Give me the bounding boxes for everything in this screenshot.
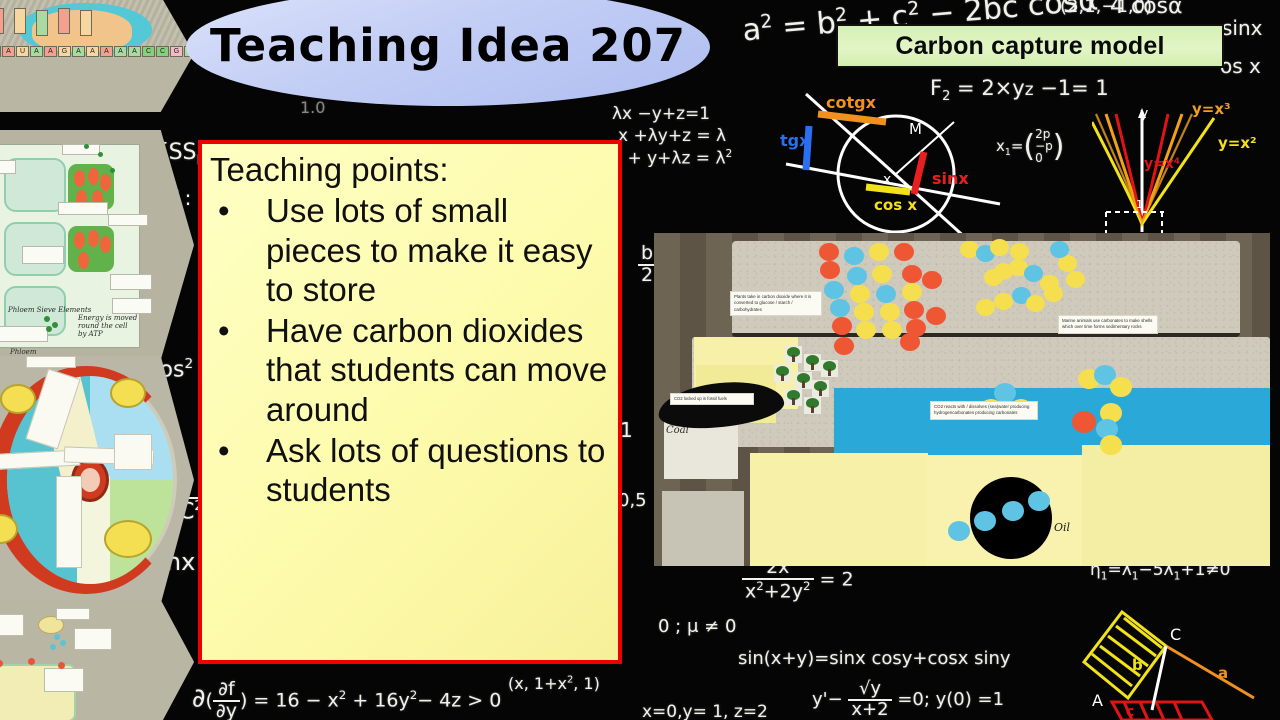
bullet-icon: • [218, 311, 230, 351]
formula-bracket-vector: (x, 1+x2, 1) [508, 674, 600, 693]
list-item-label: Ask lots of questions to students [266, 432, 605, 509]
side-photo-enzyme-worksheet [0, 600, 194, 720]
svg-text:c: c [1126, 704, 1134, 720]
topic-banner: Carbon capture model [836, 24, 1224, 68]
bullet-icon: • [218, 431, 230, 471]
label-plants-carbon-dioxide: Plants take in carbon dioxide where it i… [730, 291, 822, 316]
list-item: • Have carbon dioxides that students can… [210, 311, 608, 430]
formula-top-matrix-small: (2,1,−1,0) [1060, 0, 1152, 17]
svg-text:1: 1 [1136, 198, 1143, 211]
svg-text:y=x²: y=x² [1218, 134, 1257, 152]
carbon-capture-model-photo: Oil Coal Plants take in carbon dioxide w… [654, 233, 1270, 566]
formula-partial-derivative: ∂(∂f∂y) = 16 − x2 + 16y2− 4z > 0 [192, 680, 501, 720]
label-co2-reacts-seawater: CO2 reacts with / dissolves (sea)water p… [930, 401, 1038, 420]
label-co2-locked-fossil-fuels: CO2 locked up in fossil fuels [670, 393, 754, 405]
side-photo-dna-rna-codon-board: G A U A A G A A A A A C C G T [0, 0, 194, 112]
teaching-points-box: Teaching points: • Use lots of small pie… [198, 140, 622, 664]
formula-system-2: x +λy+z = λ [618, 126, 726, 146]
svg-text:C: C [1170, 625, 1181, 644]
formula-sin-sum: sin(x+y)=sinx cosy+cosx siny [738, 648, 1011, 669]
list-item: • Ask lots of questions to students [210, 431, 608, 510]
formula-xyz-values: x=0,y= 1, z=2 [642, 702, 768, 720]
svg-text:b: b [1132, 656, 1143, 674]
oil-handwriting: Oil [1054, 521, 1070, 534]
svg-text:cotgx: cotgx [826, 93, 877, 112]
formula-cosx-top-right: os x [1220, 54, 1261, 78]
svg-text:y=x⁴: y=x⁴ [1144, 156, 1180, 172]
topic-banner-label: Carbon capture model [895, 32, 1164, 61]
pythagoras-diagram: C A a b c [1078, 606, 1280, 720]
formula-mu-neq-zero: 0 ; μ ≠ 0 [658, 616, 736, 637]
yellow-paper-bottom-1 [750, 453, 928, 566]
teaching-points-list: • Use lots of small pieces to make it ea… [210, 191, 608, 510]
svg-text:M: M [909, 120, 922, 138]
svg-text:x: x [883, 172, 891, 188]
slide-root: a2 = b2 + c2 − 2bc cosα λx −y+z=1 x +λy+… [0, 0, 1280, 720]
svg-text:tgx: tgx [780, 131, 810, 150]
yellow-paper-bottom-3 [1082, 445, 1270, 566]
svg-text:A: A [1092, 691, 1103, 710]
formula-system-3: x + y+λz = λ2 [612, 148, 732, 169]
svg-text:a: a [1218, 664, 1228, 682]
formula-sinx-top-right: sinx [1222, 16, 1263, 40]
formula-system-1: λx −y+z=1 [612, 104, 710, 124]
side-photo-phloem-poster: Phloem Sieve Elements Energy is movedrou… [0, 130, 194, 360]
page-title: Teaching Idea 207 [186, 0, 710, 106]
bullet-icon: • [218, 191, 230, 231]
list-item-label: Have carbon dioxides that students can m… [266, 312, 607, 428]
svg-text:cos x: cos x [874, 196, 917, 214]
power-functions-graph: y 1 y=x³ y=x² y=x⁴ [1092, 100, 1280, 240]
side-photo-column: G A U A A G A A A A A C C G T [0, 0, 196, 720]
svg-text:y=x³: y=x³ [1192, 100, 1231, 118]
list-item-label: Use lots of small pieces to make it easy… [266, 192, 593, 308]
formula-05: 0,5 [618, 490, 647, 511]
unit-circle-diagram: cotgx tgx sinx cos x M x [778, 88, 1008, 244]
teaching-points-heading: Teaching points: [210, 152, 608, 189]
side-photo-carbon-cycle-wheel [0, 356, 194, 604]
svg-text:y: y [1140, 106, 1148, 122]
formula-x4-top: 4 cosα [1110, 0, 1183, 19]
svg-text:sinx: sinx [932, 169, 969, 188]
formula-ode: y'− √yx+2 =0; y(0) =1 [812, 680, 1004, 720]
list-item: • Use lots of small pieces to make it ea… [210, 191, 608, 310]
grey-paper-corner [662, 491, 744, 566]
label-marine-animals-carbonates: Marine animals use carbonates to make sh… [1058, 315, 1158, 334]
